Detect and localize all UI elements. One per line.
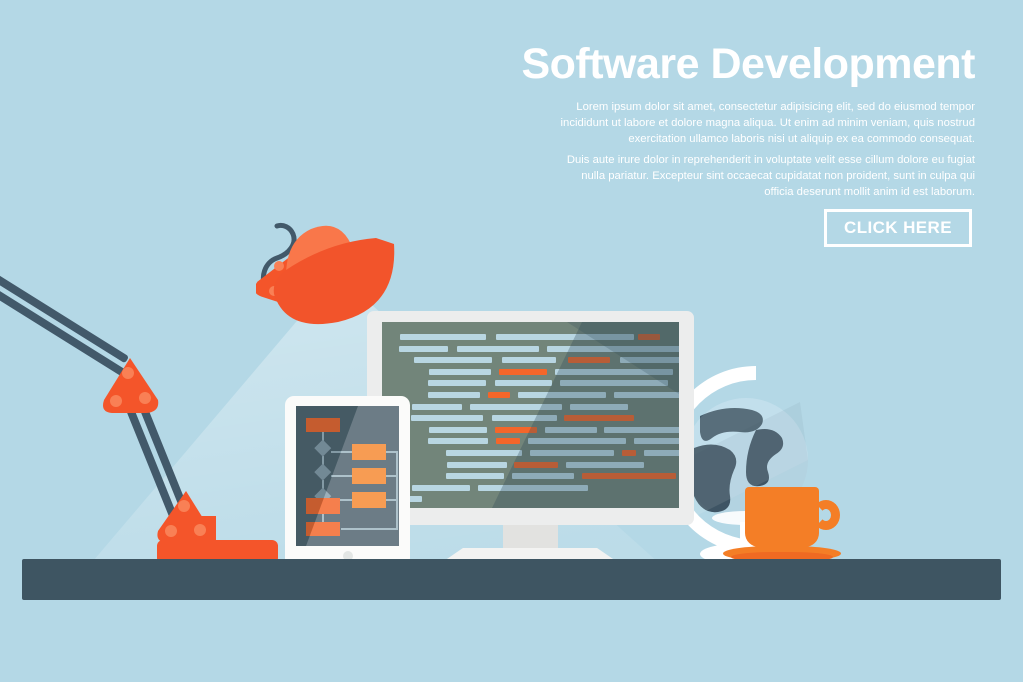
code-line-segment — [512, 473, 574, 479]
flowchart-process-box — [306, 418, 340, 432]
code-line-segment — [446, 450, 522, 456]
code-line-segment — [488, 392, 510, 398]
code-line-segment — [530, 450, 614, 456]
code-line-segment — [545, 427, 597, 433]
code-line-segment — [495, 427, 537, 433]
code-line-segment — [496, 438, 520, 444]
code-line-segment — [428, 380, 486, 386]
code-line-segment — [495, 380, 552, 386]
flowchart-connector — [341, 528, 398, 530]
code-line-segment — [428, 438, 488, 444]
code-line-segment — [400, 334, 486, 340]
desk-surface — [22, 559, 1001, 600]
hero-paragraph-2: Duis aute irure dolor in reprehenderit i… — [555, 152, 975, 200]
lamp-base-joint — [155, 489, 217, 545]
flowchart-process-box — [352, 492, 386, 508]
code-line-segment — [446, 473, 504, 479]
code-line-segment — [560, 380, 668, 386]
flowchart-connector — [396, 451, 398, 529]
code-line-segment — [644, 450, 679, 456]
code-line-segment — [492, 415, 557, 421]
code-line-segment — [566, 462, 644, 468]
code-line-segment — [428, 392, 480, 398]
cup-body — [745, 487, 819, 547]
code-line-segment — [634, 438, 679, 444]
code-line-segment — [502, 357, 556, 363]
code-line-segment — [518, 392, 606, 398]
flowchart-connector — [331, 451, 352, 453]
code-line-segment — [412, 485, 470, 491]
code-line-segment — [457, 346, 539, 352]
code-line-segment — [399, 346, 448, 352]
code-line-segment — [528, 438, 626, 444]
flowchart-process-box — [306, 522, 340, 536]
code-line-segment — [568, 357, 610, 363]
click-here-button[interactable]: CLICK HERE — [824, 209, 972, 247]
code-line-segment — [564, 415, 634, 421]
flowchart-process-box — [352, 444, 386, 460]
code-line-segment — [582, 473, 676, 479]
code-line-segment — [447, 462, 507, 468]
code-line-segment — [570, 404, 628, 410]
code-line-segment — [478, 485, 588, 491]
code-line-segment — [499, 369, 547, 375]
code-line-segment — [496, 334, 634, 340]
flowchart-process-box — [352, 468, 386, 484]
code-line-segment — [622, 450, 636, 456]
hero-paragraph-1: Lorem ipsum dolor sit amet, consectetur … — [555, 99, 975, 147]
lamp-elbow-joint — [100, 356, 162, 418]
code-line-segment — [414, 357, 492, 363]
illustration-banner: Software Development Lorem ipsum dolor s… — [0, 0, 1023, 682]
code-line-segment — [547, 346, 679, 352]
code-line-segment — [555, 369, 673, 375]
code-line-segment — [412, 404, 462, 410]
code-line-segment — [604, 427, 679, 433]
code-line-segment — [614, 392, 679, 398]
code-line-segment — [620, 357, 679, 363]
code-line-segment — [514, 462, 558, 468]
code-line-segment — [411, 415, 483, 421]
code-line-segment — [429, 369, 491, 375]
code-line-segment — [638, 334, 660, 340]
flowchart-decision — [315, 464, 331, 480]
code-line-segment — [470, 404, 562, 410]
code-line-segment — [429, 427, 487, 433]
tablet-screen — [296, 406, 399, 546]
flowchart-decision — [315, 440, 331, 456]
page-title: Software Development — [420, 42, 975, 87]
flowchart-process-box — [306, 498, 340, 514]
flowchart-connector — [331, 475, 352, 477]
monitor-screen — [382, 322, 679, 508]
